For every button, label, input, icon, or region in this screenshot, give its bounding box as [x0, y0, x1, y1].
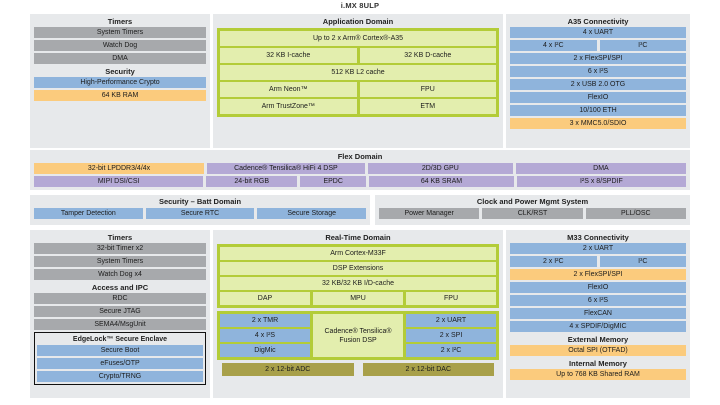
block-dap[interactable]: DAP: [220, 292, 310, 305]
block-crypto-trng[interactable]: Crypto/TRNG: [37, 371, 203, 382]
block-m33-flexio[interactable]: FlexIO: [510, 282, 686, 293]
block-l2-cache[interactable]: 512 KB L2 cache: [220, 65, 496, 80]
block-m33-i2s[interactable]: 6 x I²S: [510, 295, 686, 306]
block-d-cache[interactable]: 32 KB D-cache: [360, 48, 497, 63]
clock-power-panel: Clock and Power Mgmt System Power Manage…: [375, 195, 690, 225]
block-64kb-sram[interactable]: 64 KB SRAM: [369, 176, 514, 187]
block-m33-flexspi[interactable]: 2 x FlexSPI/SPI: [510, 269, 686, 280]
block-dac[interactable]: 2 x 12-bit DAC: [363, 363, 495, 376]
block-i-cache[interactable]: 32 KB I-cache: [220, 48, 357, 63]
block-etm[interactable]: ETM: [360, 99, 497, 114]
block-gpu[interactable]: 2D/3D GPU: [368, 163, 513, 174]
block-bottom-system-timers[interactable]: System Timers: [34, 256, 206, 267]
application-domain-title: Application Domain: [217, 16, 499, 27]
block-dma[interactable]: DMA: [34, 53, 206, 64]
block-secure-storage[interactable]: Secure Storage: [257, 208, 366, 219]
flex-domain-title: Flex Domain: [34, 151, 686, 162]
edgelock-title: EdgeLock™ Secure Enclave: [37, 334, 203, 345]
block-watch-dog[interactable]: Watch Dog: [34, 40, 206, 51]
block-lpddr[interactable]: 32-bit LPDDR3/4/4x: [34, 163, 204, 174]
block-2x-uart[interactable]: 2 x UART: [406, 314, 496, 327]
block-m33-i3c[interactable]: I³C: [600, 256, 687, 267]
block-tamper-detection[interactable]: Tamper Detection: [34, 208, 143, 219]
block-fpu[interactable]: FPU: [360, 82, 497, 97]
block-efuses-otp[interactable]: eFuses/OTP: [37, 358, 203, 369]
block-rdc[interactable]: RDC: [34, 293, 206, 304]
block-flexcan[interactable]: FlexCAN: [510, 308, 686, 319]
block-24bit-rgb[interactable]: 24-bit RGB: [206, 176, 297, 187]
block-m33-uart[interactable]: 2 x UART: [510, 243, 686, 254]
block-flex-dma[interactable]: DMA: [516, 163, 686, 174]
block-clk-rst[interactable]: CLK/RST: [482, 208, 582, 219]
block-2x-spi[interactable]: 2 x SPI: [406, 329, 496, 342]
block-system-timers[interactable]: System Timers: [34, 27, 206, 38]
block-cortex-m33f[interactable]: Arm Cortex-M33F: [220, 247, 496, 260]
top-left-panel: Timers System Timers Watch Dog DMA Secur…: [30, 14, 210, 148]
block-secure-boot[interactable]: Secure Boot: [37, 345, 203, 356]
block-octal-spi[interactable]: Octal SPI (OTFAD): [510, 345, 686, 356]
block-a35-mmc-sdio[interactable]: 3 x MMC5.0/SDIO: [510, 118, 686, 129]
a35-core-group: Up to 2 x Arm® Cortex®-A35 32 KB I-cache…: [217, 28, 499, 117]
block-a35-flexspi[interactable]: 2 x FlexSPI/SPI: [510, 53, 686, 64]
page-title: i.MX 8ULP: [0, 1, 720, 10]
block-2x-tmr[interactable]: 2 x TMR: [220, 314, 310, 327]
block-m33-i2c[interactable]: 2 x I²C: [510, 256, 597, 267]
realtime-domain-panel: Real-Time Domain Arm Cortex-M33F DSP Ext…: [213, 230, 503, 398]
clock-power-title: Clock and Power Mgmt System: [379, 196, 686, 207]
fusion-dsp-group: 2 x TMR 4 x I²S DigMic Cadence® Tensilic…: [217, 311, 499, 360]
bottom-left-panel: Timers 32-bit Timer x2 System Timers Wat…: [30, 230, 210, 398]
batt-domain-panel: Security – Batt Domain Tamper Detection …: [30, 195, 370, 225]
internal-memory-title: Internal Memory: [510, 358, 686, 369]
block-watch-dog-x4[interactable]: Watch Dog x4: [34, 269, 206, 280]
imx8ulp-block-diagram: i.MX 8ULP Timers System Timers Watch Dog…: [0, 0, 720, 405]
fusion-dsp-line1: Cadence® Tensilica®: [325, 327, 392, 336]
access-ipc-title: Access and IPC: [34, 282, 206, 293]
flex-domain-panel: Flex Domain 32-bit LPDDR3/4/4x Cadence® …: [30, 150, 690, 190]
block-a35-i2c[interactable]: 4 x I²C: [510, 40, 597, 51]
m33-connectivity-panel: M33 Connectivity 2 x UART 2 x I²C I³C 2 …: [506, 230, 690, 398]
edgelock-secure-enclave: EdgeLock™ Secure Enclave Secure Boot eFu…: [34, 332, 206, 385]
top-timers-title: Timers: [34, 16, 206, 27]
block-secure-rtc[interactable]: Secure RTC: [146, 208, 255, 219]
a35-connectivity-title: A35 Connectivity: [510, 16, 686, 27]
block-a35-i3c[interactable]: I³C: [600, 40, 687, 51]
block-shared-ram[interactable]: Up to 768 KB Shared RAM: [510, 369, 686, 380]
block-spdif-digmic[interactable]: 4 x SPDIF/DigMIC: [510, 321, 686, 332]
block-64kb-ram[interactable]: 64 KB RAM: [34, 90, 206, 101]
block-power-manager[interactable]: Power Manager: [379, 208, 479, 219]
m33-core-group: Arm Cortex-M33F DSP Extensions 32 KB/32 …: [217, 244, 499, 308]
block-fusion-dsp[interactable]: Cadence® Tensilica® Fusion DSP: [313, 314, 403, 357]
block-epdc[interactable]: EPDC: [300, 176, 366, 187]
block-a35-eth[interactable]: 10/100 ETH: [510, 105, 686, 116]
block-adc[interactable]: 2 x 12-bit ADC: [222, 363, 354, 376]
block-m33-fpu[interactable]: FPU: [406, 292, 496, 305]
block-2x-i2c[interactable]: 2 x I²C: [406, 344, 496, 357]
block-digmic[interactable]: DigMic: [220, 344, 310, 357]
block-a35-uart[interactable]: 4 x UART: [510, 27, 686, 38]
a35-connectivity-panel: A35 Connectivity 4 x UART 4 x I²C I³C 2 …: [506, 14, 690, 148]
top-security-title: Security: [34, 66, 206, 77]
realtime-domain-title: Real-Time Domain: [217, 232, 499, 243]
block-4x-i2s[interactable]: 4 x I²S: [220, 329, 310, 342]
block-mipi[interactable]: MIPI DSI/CSI: [34, 176, 203, 187]
block-cortex-a35[interactable]: Up to 2 x Arm® Cortex®-A35: [220, 31, 496, 46]
block-a35-i2s[interactable]: 6 x I²S: [510, 66, 686, 77]
block-hifi4-dsp[interactable]: Cadence® Tensilica® HiFi 4 DSP: [207, 163, 365, 174]
block-arm-trustzone[interactable]: Arm TrustZone™: [220, 99, 357, 114]
application-domain-panel: Application Domain Up to 2 x Arm® Cortex…: [213, 14, 503, 148]
m33-connectivity-title: M33 Connectivity: [510, 232, 686, 243]
block-dsp-extensions[interactable]: DSP Extensions: [220, 262, 496, 275]
block-a35-usb[interactable]: 2 x USB 2.0 OTG: [510, 79, 686, 90]
block-arm-neon[interactable]: Arm Neon™: [220, 82, 357, 97]
block-secure-jtag[interactable]: Secure JTAG: [34, 306, 206, 317]
block-i2s-spdif[interactable]: I²S x 8/SPDIF: [517, 176, 686, 187]
block-m33-cache[interactable]: 32 KB/32 KB I/D-cache: [220, 277, 496, 290]
block-mpu[interactable]: MPU: [313, 292, 403, 305]
batt-domain-title: Security – Batt Domain: [34, 196, 366, 207]
external-memory-title: External Memory: [510, 334, 686, 345]
block-a35-flexio[interactable]: FlexIO: [510, 92, 686, 103]
fusion-dsp-line2: Fusion DSP: [339, 336, 376, 345]
block-sema4-msgunit[interactable]: SEMA4/MsgUnit: [34, 319, 206, 330]
block-high-performance-crypto[interactable]: High-Performance Crypto: [34, 77, 206, 88]
block-32bit-timer[interactable]: 32-bit Timer x2: [34, 243, 206, 254]
bottom-timers-title: Timers: [34, 232, 206, 243]
block-pll-osc[interactable]: PLL/OSC: [586, 208, 686, 219]
